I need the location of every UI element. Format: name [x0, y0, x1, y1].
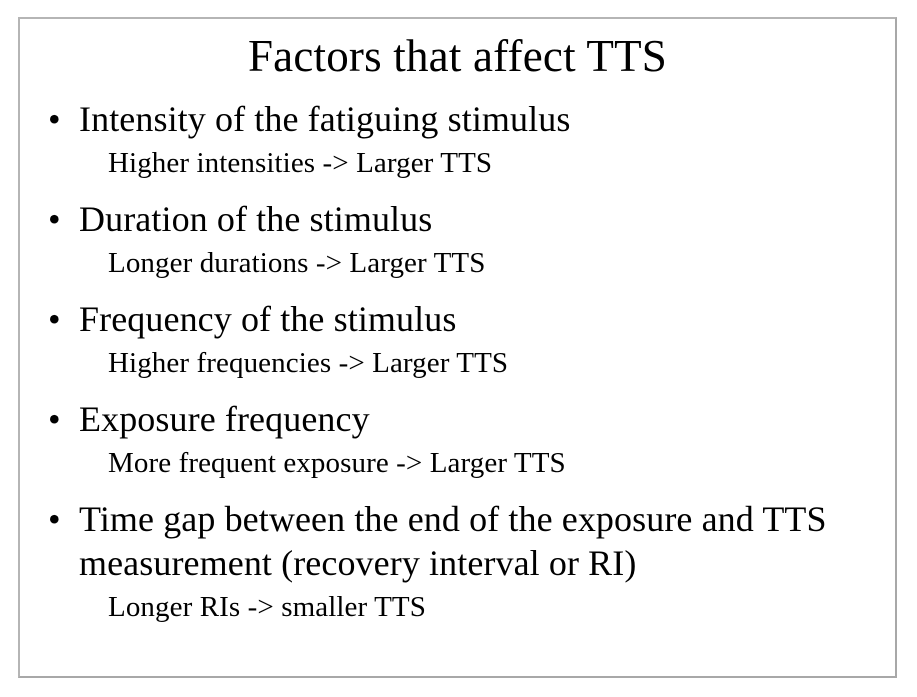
bullet-text: Exposure frequency — [79, 397, 865, 441]
list-item: • Duration of the stimulus Longer durati… — [20, 197, 895, 283]
list-item: • Intensity of the fatiguing stimulus Hi… — [20, 97, 895, 183]
bullet-point-icon: • — [48, 497, 66, 541]
bullet-subtext: Longer durations -> Larger TTS — [20, 243, 895, 283]
bullet-subtext: Longer RIs -> smaller TTS — [20, 587, 895, 627]
bullet-point-icon: • — [48, 397, 66, 441]
bullet-point-icon: • — [48, 97, 66, 141]
page-title: Factors that affect TTS — [20, 34, 895, 79]
bullet-point-icon: • — [48, 297, 66, 341]
bullet-row: • Duration of the stimulus — [20, 197, 895, 241]
bullet-text: Duration of the stimulus — [79, 197, 865, 241]
list-item: • Time gap between the end of the exposu… — [20, 497, 895, 627]
bullet-row: • Time gap between the end of the exposu… — [20, 497, 895, 585]
bullet-row: • Intensity of the fatiguing stimulus — [20, 97, 895, 141]
bullet-point-icon: • — [48, 197, 66, 241]
list-item: • Frequency of the stimulus Higher frequ… — [20, 297, 895, 383]
bullet-subtext: Higher intensities -> Larger TTS — [20, 143, 895, 183]
bullet-subtext: Higher frequencies -> Larger TTS — [20, 343, 895, 383]
list-item: • Exposure frequency More frequent expos… — [20, 397, 895, 483]
bullet-subtext: More frequent exposure -> Larger TTS — [20, 443, 895, 483]
bullet-text: Frequency of the stimulus — [79, 297, 865, 341]
bullet-text: Intensity of the fatiguing stimulus — [79, 97, 865, 141]
slide-frame: Factors that affect TTS • Intensity of t… — [18, 17, 897, 678]
bullet-row: • Exposure frequency — [20, 397, 895, 441]
bullet-list: • Intensity of the fatiguing stimulus Hi… — [20, 97, 895, 627]
bullet-row: • Frequency of the stimulus — [20, 297, 895, 341]
bullet-text: Time gap between the end of the exposure… — [79, 497, 865, 585]
